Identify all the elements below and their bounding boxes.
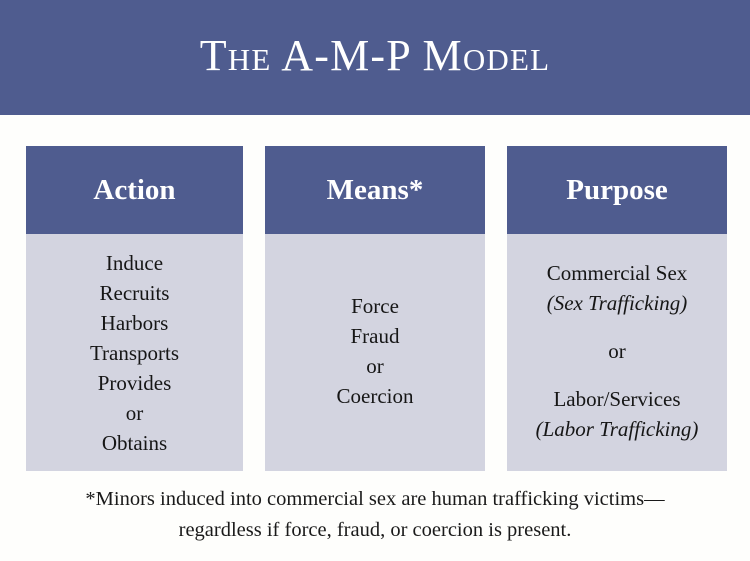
list-item: Induce [106, 248, 163, 278]
amp-columns: Action Induce Recruits Harbors Transport… [0, 146, 750, 471]
column-header-purpose: Purpose [507, 146, 727, 234]
footnote: *Minors induced into commercial sex are … [0, 484, 750, 546]
list-item: Labor/Services [553, 384, 680, 414]
footnote-line-1: *Minors induced into commercial sex are … [24, 484, 726, 515]
list-item: Fraud [351, 321, 400, 351]
column-body-means: Force Fraud or Coercion [265, 234, 485, 471]
list-item: Coercion [337, 381, 414, 411]
list-item: or [608, 336, 626, 366]
column-header-means: Means* [265, 146, 485, 234]
column-action: Action Induce Recruits Harbors Transport… [26, 146, 243, 471]
column-purpose: Purpose Commercial Sex (Sex Trafficking)… [507, 146, 727, 471]
list-item: Obtains [102, 428, 167, 458]
column-body-action: Induce Recruits Harbors Transports Provi… [26, 234, 243, 471]
list-item: or [366, 351, 384, 381]
list-item-note: (Labor Trafficking) [536, 414, 699, 444]
footnote-line-2: regardless if force, fraud, or coercion … [24, 515, 726, 546]
column-means: Means* Force Fraud or Coercion [265, 146, 485, 471]
list-item: Harbors [101, 308, 169, 338]
list-item: or [126, 398, 144, 428]
list-item: Force [351, 291, 399, 321]
column-header-action: Action [26, 146, 243, 234]
list-item: Provides [98, 368, 172, 398]
list-item: Transports [90, 338, 179, 368]
column-body-purpose: Commercial Sex (Sex Trafficking) or Labo… [507, 234, 727, 471]
list-item: Recruits [100, 278, 170, 308]
list-item: Commercial Sex [547, 258, 688, 288]
list-item-note: (Sex Trafficking) [547, 288, 688, 318]
page-title: The A-M-P Model [200, 34, 551, 82]
title-band: The A-M-P Model [0, 0, 750, 115]
